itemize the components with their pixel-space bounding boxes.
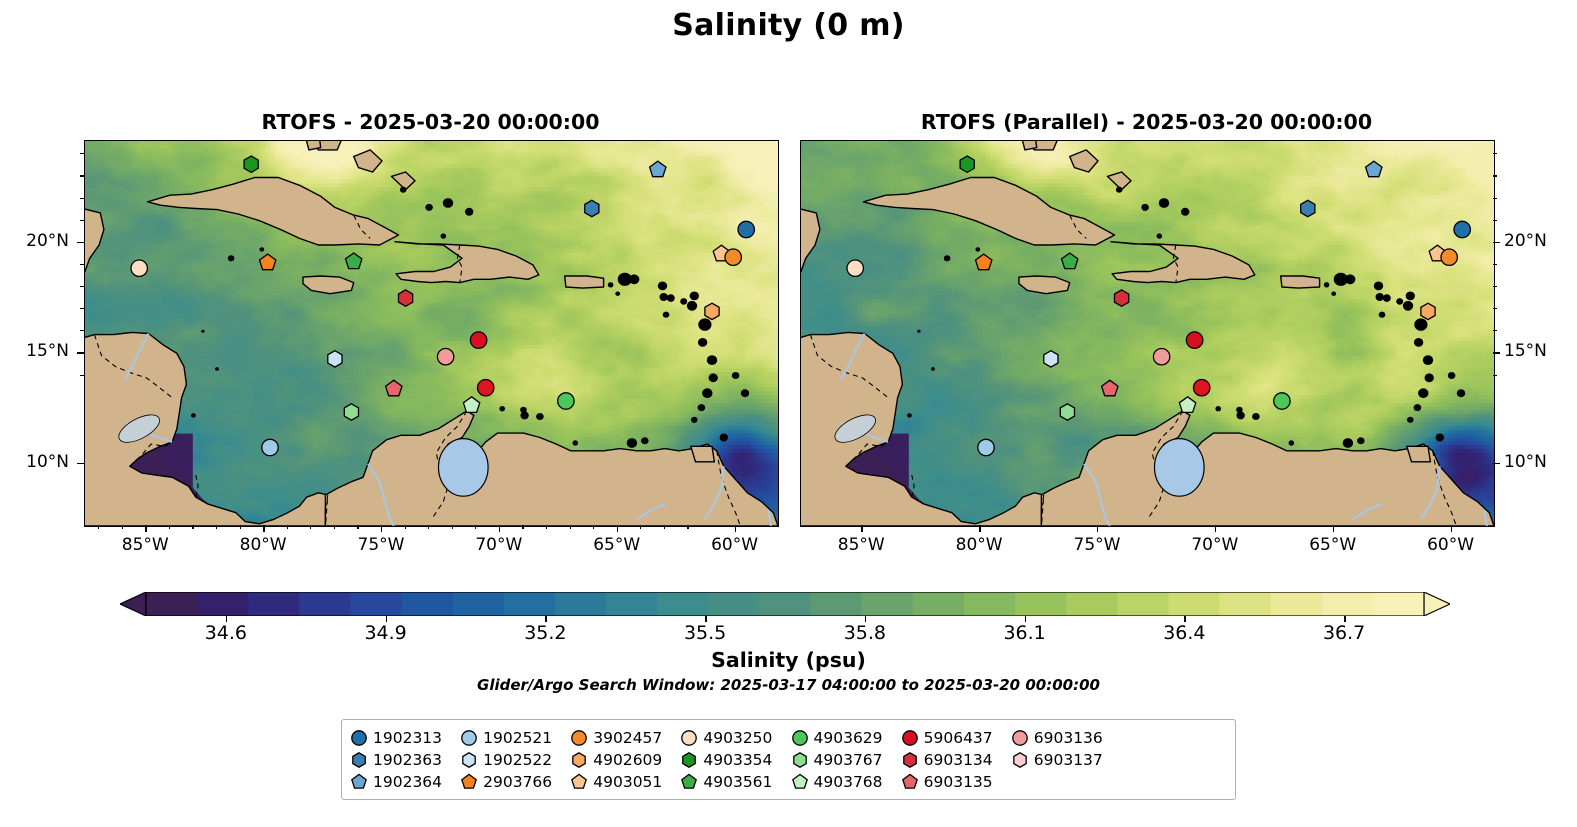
circle-marker-icon: 5906437 <box>899 727 921 749</box>
hexagon-marker[interactable]: 4902609 <box>1421 303 1435 319</box>
hexagon-marker-icon: 1902363 <box>348 749 370 771</box>
hexagon-marker[interactable]: 4903767 <box>793 753 805 767</box>
pentagon-marker-icon: 1902364 <box>348 771 370 793</box>
legend-item-label: 4903250 <box>703 729 772 747</box>
circle-marker[interactable]: 5906437 <box>470 332 486 348</box>
x-tick <box>1451 525 1452 532</box>
x-tick <box>979 525 980 532</box>
pentagon-marker[interactable]: 4903561 <box>1062 253 1078 269</box>
hexagon-marker[interactable]: 4903767 <box>1060 404 1074 420</box>
x-tick <box>861 525 862 532</box>
pentagon-marker[interactable]: 6903135 <box>1102 380 1118 396</box>
hexagon-marker[interactable]: 1902522 <box>1044 351 1058 367</box>
circle-marker[interactable]: 1902521 <box>978 439 994 455</box>
x-minor-tick <box>428 525 429 529</box>
y-tick-label: 20°N <box>0 231 69 251</box>
legend-item-empty <box>1009 771 1119 793</box>
x-tick-label: 65°W <box>1293 535 1373 555</box>
map-canvas-left: 4903354190236419023631902313490325029037… <box>85 141 778 526</box>
hexagon-marker[interactable]: 1902363 <box>585 200 599 216</box>
legend-item-4903051[interactable]: 49030514903051 <box>568 771 678 793</box>
search-window-text: Glider/Argo Search Window: 2025-03-17 04… <box>0 676 1577 694</box>
colorbar[interactable] <box>120 592 1450 616</box>
y-minor-tick <box>1493 330 1497 331</box>
x-minor-tick <box>216 525 217 529</box>
legend-item-1902363[interactable]: 19023631902363 <box>348 749 458 771</box>
panel-title-left: RTOFS - 2025-03-20 00:00:00 <box>84 110 777 134</box>
colorbar-tick-label: 36.4 <box>1139 622 1229 644</box>
x-minor-tick <box>640 525 641 529</box>
y-minor-tick <box>80 220 84 221</box>
circle-marker-icon: 1902521 <box>458 727 480 749</box>
y-tick <box>1493 463 1500 464</box>
x-tick <box>381 525 382 532</box>
x-tick-label: 75°W <box>1057 535 1137 555</box>
hexagon-marker[interactable]: 4902609 <box>573 753 585 767</box>
panel-title-right: RTOFS (Parallel) - 2025-03-20 00:00:00 <box>800 110 1493 134</box>
legend-rows: 1902313190231319025211902521390245739024… <box>348 727 1229 793</box>
y-minor-tick <box>80 198 84 199</box>
legend-item-empty <box>1119 727 1229 749</box>
x-minor-tick <box>570 525 571 529</box>
pentagon-marker[interactable]: 2903766 <box>976 254 992 270</box>
colorbar-tick-label: 34.6 <box>181 622 271 644</box>
legend-item-6903135[interactable]: 69031356903135 <box>899 771 1009 793</box>
figure: Salinity (0 m) RTOFS - 2025-03-20 00:00:… <box>0 0 1577 827</box>
circle-marker[interactable]: 5906437b <box>478 380 494 396</box>
y-tick <box>77 463 84 464</box>
x-minor-tick <box>334 525 335 529</box>
hexagon-marker-icon: 1902522 <box>458 749 480 771</box>
legend-item-label: 6903137 <box>1034 751 1103 769</box>
y-tick <box>1493 352 1500 353</box>
legend-item-2903766[interactable]: 29037662903766 <box>458 771 568 793</box>
hexagon-marker[interactable]: 6903134 <box>399 290 413 306</box>
circle-marker[interactable]: 1902313 <box>738 221 754 237</box>
x-tick <box>145 525 146 532</box>
legend-item-empty <box>1119 771 1229 793</box>
y-minor-tick <box>1493 375 1497 376</box>
hexagon-marker[interactable]: 1902522 <box>328 351 342 367</box>
glider-argo-markers[interactable]: 4903354190236419023631902313490325029037… <box>801 141 1494 526</box>
y-minor-tick <box>1493 308 1497 309</box>
colorbar-tick-label: 34.9 <box>341 622 431 644</box>
hexagon-marker-icon: 4902609 <box>568 749 590 771</box>
map-panel-right[interactable]: 4903354190236419023631902313490325029037… <box>800 140 1495 527</box>
colorbar-tick-label: 36.7 <box>1299 622 1389 644</box>
x-minor-tick <box>405 525 406 529</box>
hexagon-marker[interactable]: 6903137 <box>1014 753 1026 767</box>
hexagon-marker[interactable]: 4902609 <box>705 303 719 319</box>
x-tick-label: 60°W <box>695 535 775 555</box>
x-tick-label: 75°W <box>341 535 421 555</box>
x-minor-tick <box>240 525 241 529</box>
x-tick-label: 80°W <box>223 535 303 555</box>
circle-marker[interactable]: 5906437b <box>1194 380 1210 396</box>
x-tick <box>1097 525 1098 532</box>
circle-marker-icon: 1902313 <box>348 727 370 749</box>
legend-item-6903134[interactable]: 69031346903134 <box>899 749 1009 771</box>
circle-marker[interactable]: 6903136 <box>437 349 453 365</box>
circle-marker[interactable]: 1902521 <box>462 731 476 745</box>
colorbar-label: Salinity (psu) <box>0 648 1577 672</box>
y-minor-tick <box>1493 175 1497 176</box>
circle-marker[interactable]: 4903629 <box>558 393 574 409</box>
legend-row: 1902364190236429037662903766490305149030… <box>348 771 1229 793</box>
x-minor-tick <box>122 525 123 529</box>
legend-item-label: 4903354 <box>703 751 772 769</box>
legend-item-4902609[interactable]: 49026094902609 <box>568 749 678 771</box>
pentagon-marker[interactable]: 1902364 <box>1366 161 1382 177</box>
circle-marker[interactable]: 6903136 <box>1153 349 1169 365</box>
legend-item-label: 2903766 <box>483 773 552 791</box>
pentagon-marker[interactable]: 4903768 <box>792 774 806 788</box>
pentagon-marker[interactable]: 2903766 <box>462 774 476 788</box>
circle-marker[interactable]: 5906437 <box>1186 332 1202 348</box>
x-minor-tick <box>522 525 523 529</box>
x-minor-tick <box>287 525 288 529</box>
legend-item-1902313[interactable]: 19023131902313 <box>348 727 458 749</box>
colorbar-tick-label: 35.8 <box>820 622 910 644</box>
legend-item-4903250[interactable]: 49032504903250 <box>678 727 788 749</box>
legend-item-label: 1902522 <box>483 751 552 769</box>
legend-item-empty <box>1119 749 1229 771</box>
circle-marker[interactable]: 5906437 <box>902 731 916 745</box>
y-minor-tick <box>80 375 84 376</box>
hexagon-marker[interactable]: 1902363 <box>353 753 365 767</box>
legend-item-6903136[interactable]: 69031366903136 <box>1009 727 1119 749</box>
legend-item-label: 6903136 <box>1034 729 1103 747</box>
glider-argo-markers[interactable]: 4903354190236419023631902313490325029037… <box>85 141 778 526</box>
y-minor-tick <box>1493 153 1497 154</box>
y-tick-label: 20°N <box>1504 231 1574 251</box>
x-tick <box>263 525 264 532</box>
legend-item-4903629[interactable]: 49036294903629 <box>789 727 899 749</box>
map-canvas-right: 4903354190236419023631902313490325029037… <box>801 141 1494 526</box>
y-minor-tick <box>80 153 84 154</box>
x-tick <box>1215 525 1216 532</box>
hexagon-marker[interactable]: 6903134 <box>1115 290 1129 306</box>
hexagon-marker[interactable]: 4903767 <box>344 404 358 420</box>
x-tick <box>617 525 618 532</box>
legend-item-1902521[interactable]: 19025211902521 <box>458 727 568 749</box>
y-minor-tick <box>1493 286 1497 287</box>
legend-item-label: 1902363 <box>373 751 442 769</box>
circle-marker[interactable]: 4903629 <box>1274 393 1290 409</box>
colorbar-tick-label: 35.5 <box>660 622 750 644</box>
figure-title: Salinity (0 m) <box>0 8 1577 43</box>
x-minor-tick <box>664 525 665 529</box>
circle-marker[interactable]: 3902457 <box>1441 249 1457 265</box>
x-tick-label: 60°W <box>1411 535 1491 555</box>
colorbar-tick-label: 36.1 <box>980 622 1070 644</box>
pentagon-marker[interactable]: 4903561 <box>346 253 362 269</box>
circle-marker-icon: 4903629 <box>789 727 811 749</box>
y-tick-label: 10°N <box>1504 452 1574 472</box>
x-tick-label: 65°W <box>577 535 657 555</box>
y-tick <box>77 242 84 243</box>
colorbar-tick-label: 35.2 <box>500 622 590 644</box>
x-tick <box>1333 525 1334 532</box>
pentagon-marker-icon: 6903135 <box>899 771 921 793</box>
pentagon-marker[interactable]: 4903768 <box>463 397 479 413</box>
circle-marker[interactable]: 1902313 <box>352 731 366 745</box>
x-minor-tick <box>98 525 99 529</box>
legend-item-label: 4902609 <box>593 751 662 769</box>
x-tick-label: 85°W <box>105 535 185 555</box>
x-minor-tick <box>475 525 476 529</box>
pentagon-marker[interactable]: 6903135 <box>902 774 916 788</box>
legend-item-4903354[interactable]: 49033544903354 <box>678 749 788 771</box>
legend-item-label: 3902457 <box>593 729 662 747</box>
y-minor-tick <box>1493 220 1497 221</box>
legend-item-label: 5906437 <box>924 729 993 747</box>
x-tick <box>499 525 500 532</box>
legend-row: 1902363190236319025221902522490260949026… <box>348 749 1229 771</box>
pentagon-marker[interactable]: 1902364 <box>352 774 366 788</box>
map-panel-left[interactable]: 4903354190236419023631902313490325029037… <box>84 140 779 527</box>
legend-item-6903137[interactable]: 69031376903137 <box>1009 749 1119 771</box>
circle-marker-icon: 3902457 <box>568 727 590 749</box>
legend-item-label: 1902313 <box>373 729 442 747</box>
y-minor-tick <box>1493 198 1497 199</box>
hexagon-marker-icon: 6903134 <box>899 749 921 771</box>
x-tick-label: 70°W <box>1175 535 1255 555</box>
colorbar-gradient <box>120 592 1450 616</box>
hexagon-marker[interactable]: 1902522 <box>463 753 475 767</box>
circle-marker[interactable]: 6903136 <box>1013 731 1027 745</box>
x-tick-label: 85°W <box>821 535 901 555</box>
pentagon-marker-icon: 4903768 <box>789 771 811 793</box>
circle-marker[interactable]: 4903250 <box>131 260 147 276</box>
y-minor-tick <box>80 264 84 265</box>
hexagon-marker-icon: 4903767 <box>789 749 811 771</box>
pentagon-marker-icon: 4903051 <box>568 771 590 793</box>
y-tick-label: 10°N <box>0 452 69 472</box>
legend-item-label: 6903135 <box>924 773 993 791</box>
x-minor-tick <box>169 525 170 529</box>
hexagon-marker-icon: 6903137 <box>1009 749 1031 771</box>
legend-item-4903767[interactable]: 49037674903767 <box>789 749 899 771</box>
y-tick <box>77 352 84 353</box>
x-tick-label: 80°W <box>939 535 1019 555</box>
pentagon-marker-icon: 2903766 <box>458 771 480 793</box>
x-minor-tick <box>452 525 453 529</box>
legend-item-label: 4903767 <box>814 751 883 769</box>
pentagon-marker[interactable]: 4903768 <box>1179 397 1195 413</box>
circle-marker[interactable]: 1902313 <box>1454 221 1470 237</box>
circle-marker[interactable]: 3902457 <box>725 249 741 265</box>
legend-item-label: 4903629 <box>814 729 883 747</box>
y-minor-tick <box>1493 264 1497 265</box>
legend-item-label: 4903051 <box>593 773 662 791</box>
y-minor-tick <box>80 175 84 176</box>
circle-marker[interactable]: 4903250 <box>847 260 863 276</box>
legend-item-1902364[interactable]: 19023641902364 <box>348 771 458 793</box>
x-minor-tick <box>593 525 594 529</box>
legend-row: 1902313190231319025211902521390245739024… <box>348 727 1229 749</box>
pentagon-marker[interactable]: 4903561 <box>682 774 696 788</box>
x-minor-tick <box>357 525 358 529</box>
hexagon-marker[interactable]: 4903354 <box>244 156 258 172</box>
legend-item-4903768[interactable]: 49037684903768 <box>789 771 899 793</box>
hexagon-marker[interactable]: 4903354 <box>960 156 974 172</box>
circle-marker[interactable]: 3902457 <box>572 731 586 745</box>
y-tick-label: 15°N <box>1504 341 1574 361</box>
circle-marker-icon: 4903250 <box>678 727 700 749</box>
y-minor-tick <box>80 286 84 287</box>
x-minor-tick <box>192 525 193 529</box>
legend-item-label: 4903768 <box>814 773 883 791</box>
legend-item-5906437[interactable]: 59064375906437 <box>899 727 1009 749</box>
x-minor-tick <box>546 525 547 529</box>
x-tick-label: 70°W <box>459 535 539 555</box>
circle-marker[interactable]: 1902521 <box>262 439 278 455</box>
hexagon-marker[interactable]: 6903134 <box>903 753 915 767</box>
circle-marker[interactable]: 4903250 <box>682 731 696 745</box>
x-minor-tick <box>310 525 311 529</box>
y-tick <box>1493 242 1500 243</box>
legend-item-4903561[interactable]: 49035614903561 <box>678 771 788 793</box>
hexagon-marker-icon: 4903354 <box>678 749 700 771</box>
legend-item-1902522[interactable]: 19025221902522 <box>458 749 568 771</box>
pentagon-marker[interactable]: 2903766 <box>260 254 276 270</box>
circle-marker-icon: 6903136 <box>1009 727 1031 749</box>
y-minor-tick <box>80 308 84 309</box>
legend-item-label: 1902364 <box>373 773 442 791</box>
legend-item-label: 4903561 <box>703 773 772 791</box>
y-tick-label: 15°N <box>0 341 69 361</box>
legend[interactable]: 1902313190231319025211902521390245739024… <box>341 719 1236 800</box>
pentagon-marker[interactable]: 4903051 <box>572 774 586 788</box>
x-tick <box>735 525 736 532</box>
hexagon-marker[interactable]: 1902363 <box>1301 200 1315 216</box>
legend-item-label: 6903134 <box>924 751 993 769</box>
pentagon-marker-icon: 4903561 <box>678 771 700 793</box>
pentagon-marker[interactable]: 1902364 <box>650 161 666 177</box>
legend-item-3902457[interactable]: 39024573902457 <box>568 727 678 749</box>
hexagon-marker[interactable]: 4903354 <box>683 753 695 767</box>
circle-marker[interactable]: 4903629 <box>792 731 806 745</box>
x-minor-tick <box>687 525 688 529</box>
legend-item-label: 1902521 <box>483 729 552 747</box>
pentagon-marker[interactable]: 6903135 <box>386 380 402 396</box>
y-minor-tick <box>80 330 84 331</box>
